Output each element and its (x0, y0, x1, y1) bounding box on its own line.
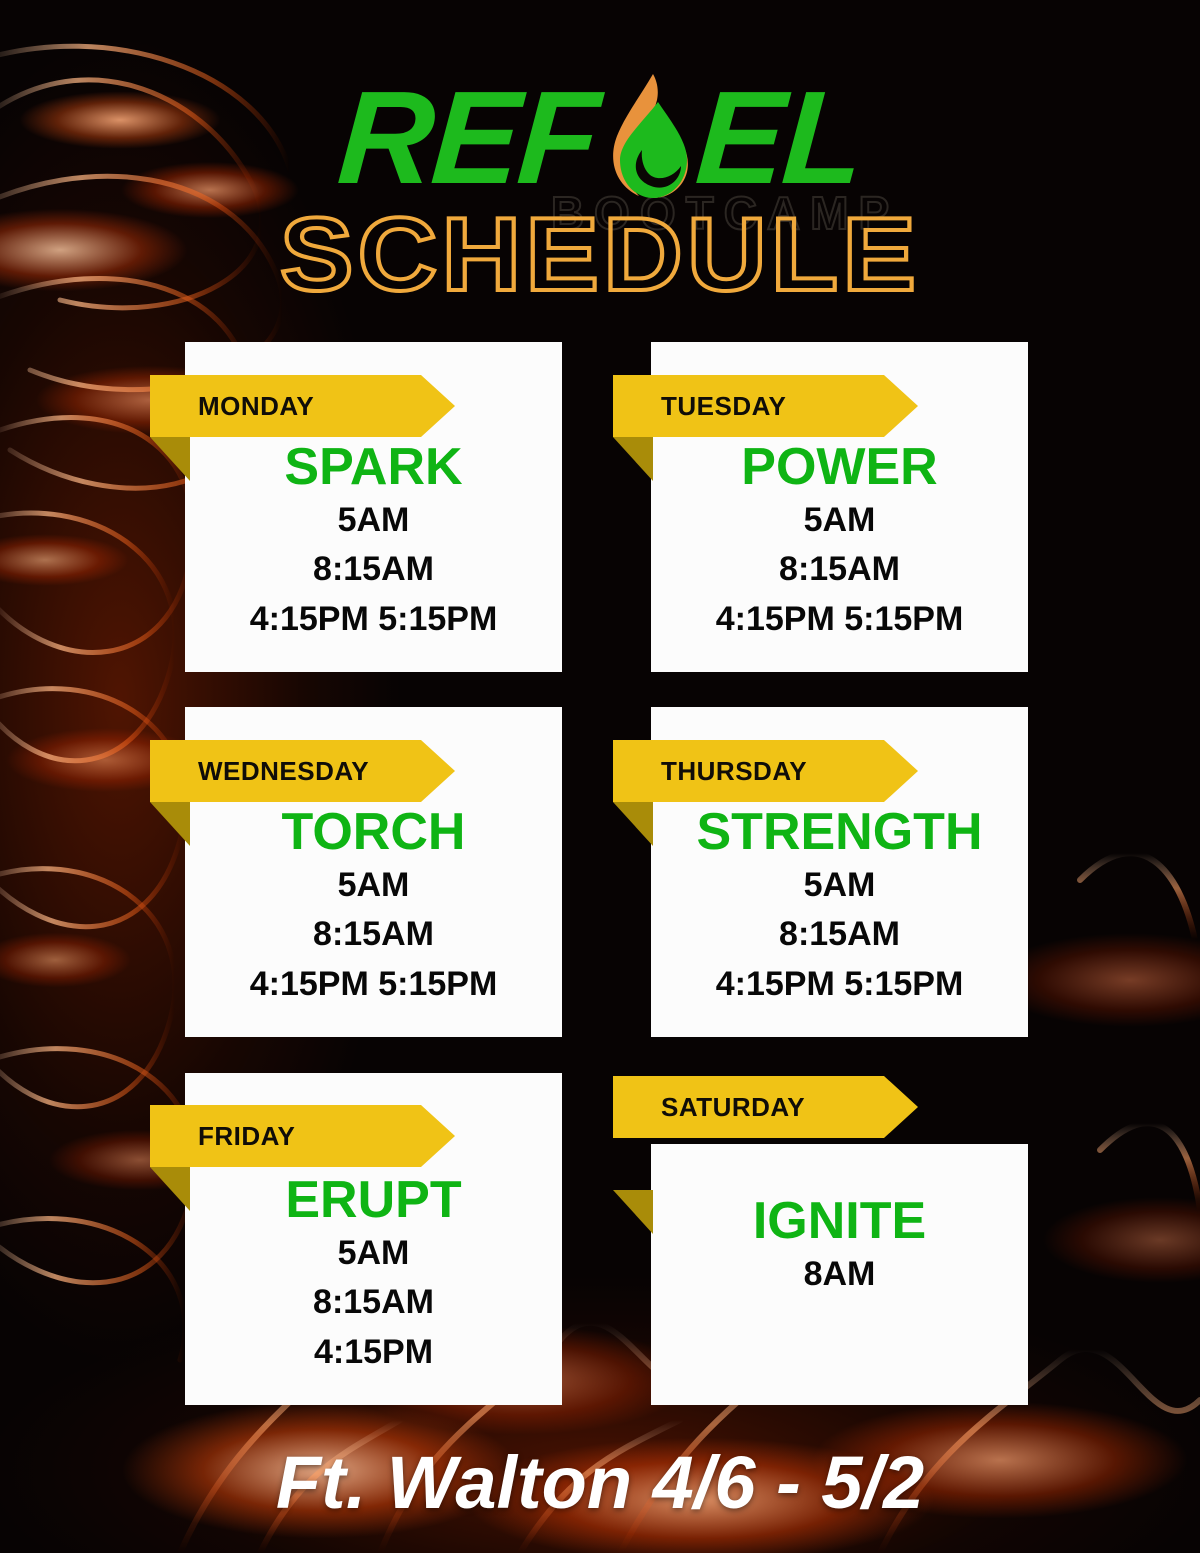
time-row: 5AM (185, 1229, 562, 1278)
card-body: ERUPT 5AM 8:15AM 4:15PM (185, 1173, 562, 1377)
time-row: 5AM (651, 496, 1028, 545)
footer-location-dates: Ft. Walton 4/6 - 5/2 (0, 1440, 1200, 1525)
time-row: 8:15AM (185, 545, 562, 594)
day-label: MONDAY (198, 391, 314, 422)
poster-header: BOOTCAMP REF EL SCHEDULE (0, 0, 1200, 310)
time-list: 5AM 8:15AM 4:15PM 5:15PM (185, 496, 562, 644)
flame-droplet-icon (595, 72, 699, 204)
ribbon-saturday: SATURDAY (613, 1076, 918, 1138)
class-name: ERUPT (185, 1173, 562, 1227)
class-name: IGNITE (651, 1194, 1028, 1248)
time-row: 5AM (185, 496, 562, 545)
class-name: TORCH (185, 805, 562, 859)
class-name: SPARK (185, 440, 562, 494)
time-row: 8:15AM (185, 1278, 562, 1327)
day-label: WEDNESDAY (198, 756, 369, 787)
time-row: 4:15PM 5:15PM (651, 960, 1028, 1009)
schedule-poster: BOOTCAMP REF EL SCHEDULE SP (0, 0, 1200, 1553)
logo-text-left: REF (334, 77, 600, 198)
card-body: STRENGTH 5AM 8:15AM 4:15PM 5:15PM (651, 805, 1028, 1009)
time-row: 8:15AM (185, 910, 562, 959)
time-row: 8:15AM (651, 910, 1028, 959)
time-row: 5AM (651, 861, 1028, 910)
class-name: POWER (651, 440, 1028, 494)
card-body: POWER 5AM 8:15AM 4:15PM 5:15PM (651, 440, 1028, 644)
card-body: TORCH 5AM 8:15AM 4:15PM 5:15PM (185, 805, 562, 1009)
time-row: 4:15PM 5:15PM (651, 595, 1028, 644)
class-name: STRENGTH (651, 805, 1028, 859)
day-label: SATURDAY (661, 1092, 805, 1123)
time-row: 4:15PM (185, 1328, 562, 1377)
time-row: 8:15AM (651, 545, 1028, 594)
time-row: 8AM (651, 1250, 1028, 1299)
time-list: 8AM (651, 1250, 1028, 1299)
time-list: 5AM 8:15AM 4:15PM 5:15PM (651, 861, 1028, 1009)
time-list: 5AM 8:15AM 4:15PM (185, 1229, 562, 1377)
ribbon-monday: MONDAY (150, 375, 455, 437)
day-label: FRIDAY (198, 1121, 295, 1152)
time-list: 5AM 8:15AM 4:15PM 5:15PM (185, 861, 562, 1009)
ribbon-thursday: THURSDAY (613, 740, 918, 802)
time-row: 4:15PM 5:15PM (185, 595, 562, 644)
page-title: SCHEDULE (0, 196, 1200, 315)
logo: REF EL (0, 72, 1200, 204)
card-body: SPARK 5AM 8:15AM 4:15PM 5:15PM (185, 440, 562, 644)
ribbon-friday: FRIDAY (150, 1105, 455, 1167)
day-card-saturday: IGNITE 8AM (651, 1144, 1028, 1405)
ribbon-tuesday: TUESDAY (613, 375, 918, 437)
ribbon-wednesday: WEDNESDAY (150, 740, 455, 802)
time-row: 5AM (185, 861, 562, 910)
time-row: 4:15PM 5:15PM (185, 960, 562, 1009)
day-label: TUESDAY (661, 391, 786, 422)
card-body: IGNITE 8AM (651, 1194, 1028, 1299)
logo-text-right: EL (692, 77, 865, 198)
day-label: THURSDAY (661, 756, 807, 787)
time-list: 5AM 8:15AM 4:15PM 5:15PM (651, 496, 1028, 644)
